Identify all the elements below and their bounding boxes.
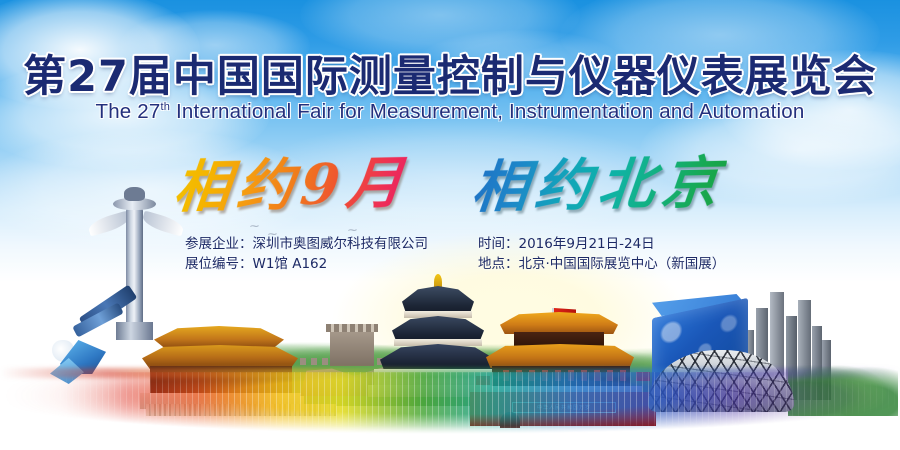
great-wall-watchtower <box>330 330 374 366</box>
bird-icon: ⁓ <box>250 222 259 231</box>
title-en-suffix: International Fair for Measurement, Inst… <box>170 100 804 123</box>
bottom-fade-overlay <box>0 426 900 450</box>
huabiao-cloud-wing-right <box>141 211 186 237</box>
huabiao-column-shaft <box>126 208 143 328</box>
bird-icon: ⁓ <box>268 230 277 239</box>
title-en-prefix: The 27 <box>95 100 160 123</box>
tiananmen-roof-lower <box>486 344 634 368</box>
poster-title-chinese: 第27届中国国际测量控制与仪器仪表展览会 <box>0 42 900 104</box>
tiananmen-roof-upper <box>500 312 618 334</box>
forbidden-city-roof-upper <box>154 326 284 348</box>
bird-icon: ⁓ <box>322 238 331 247</box>
bird-icon: ⁓ <box>348 226 357 235</box>
huabiao-mythical-beast <box>124 187 145 201</box>
huabiao-cloud-wing-left <box>87 211 132 237</box>
ordinal-suffix: th <box>161 101 171 113</box>
exhibition-poster: 第27届中国国际测量控制与仪器仪表展览会 The 27th Internatio… <box>0 0 900 450</box>
huabiao-column-base <box>116 322 153 340</box>
temple-of-heaven-roof-tier-1 <box>402 286 474 314</box>
reflection-streaks <box>0 372 900 434</box>
great-wall-tower-crown <box>326 324 378 332</box>
poster-title-english: The 27th International Fair for Measurem… <box>0 100 900 124</box>
